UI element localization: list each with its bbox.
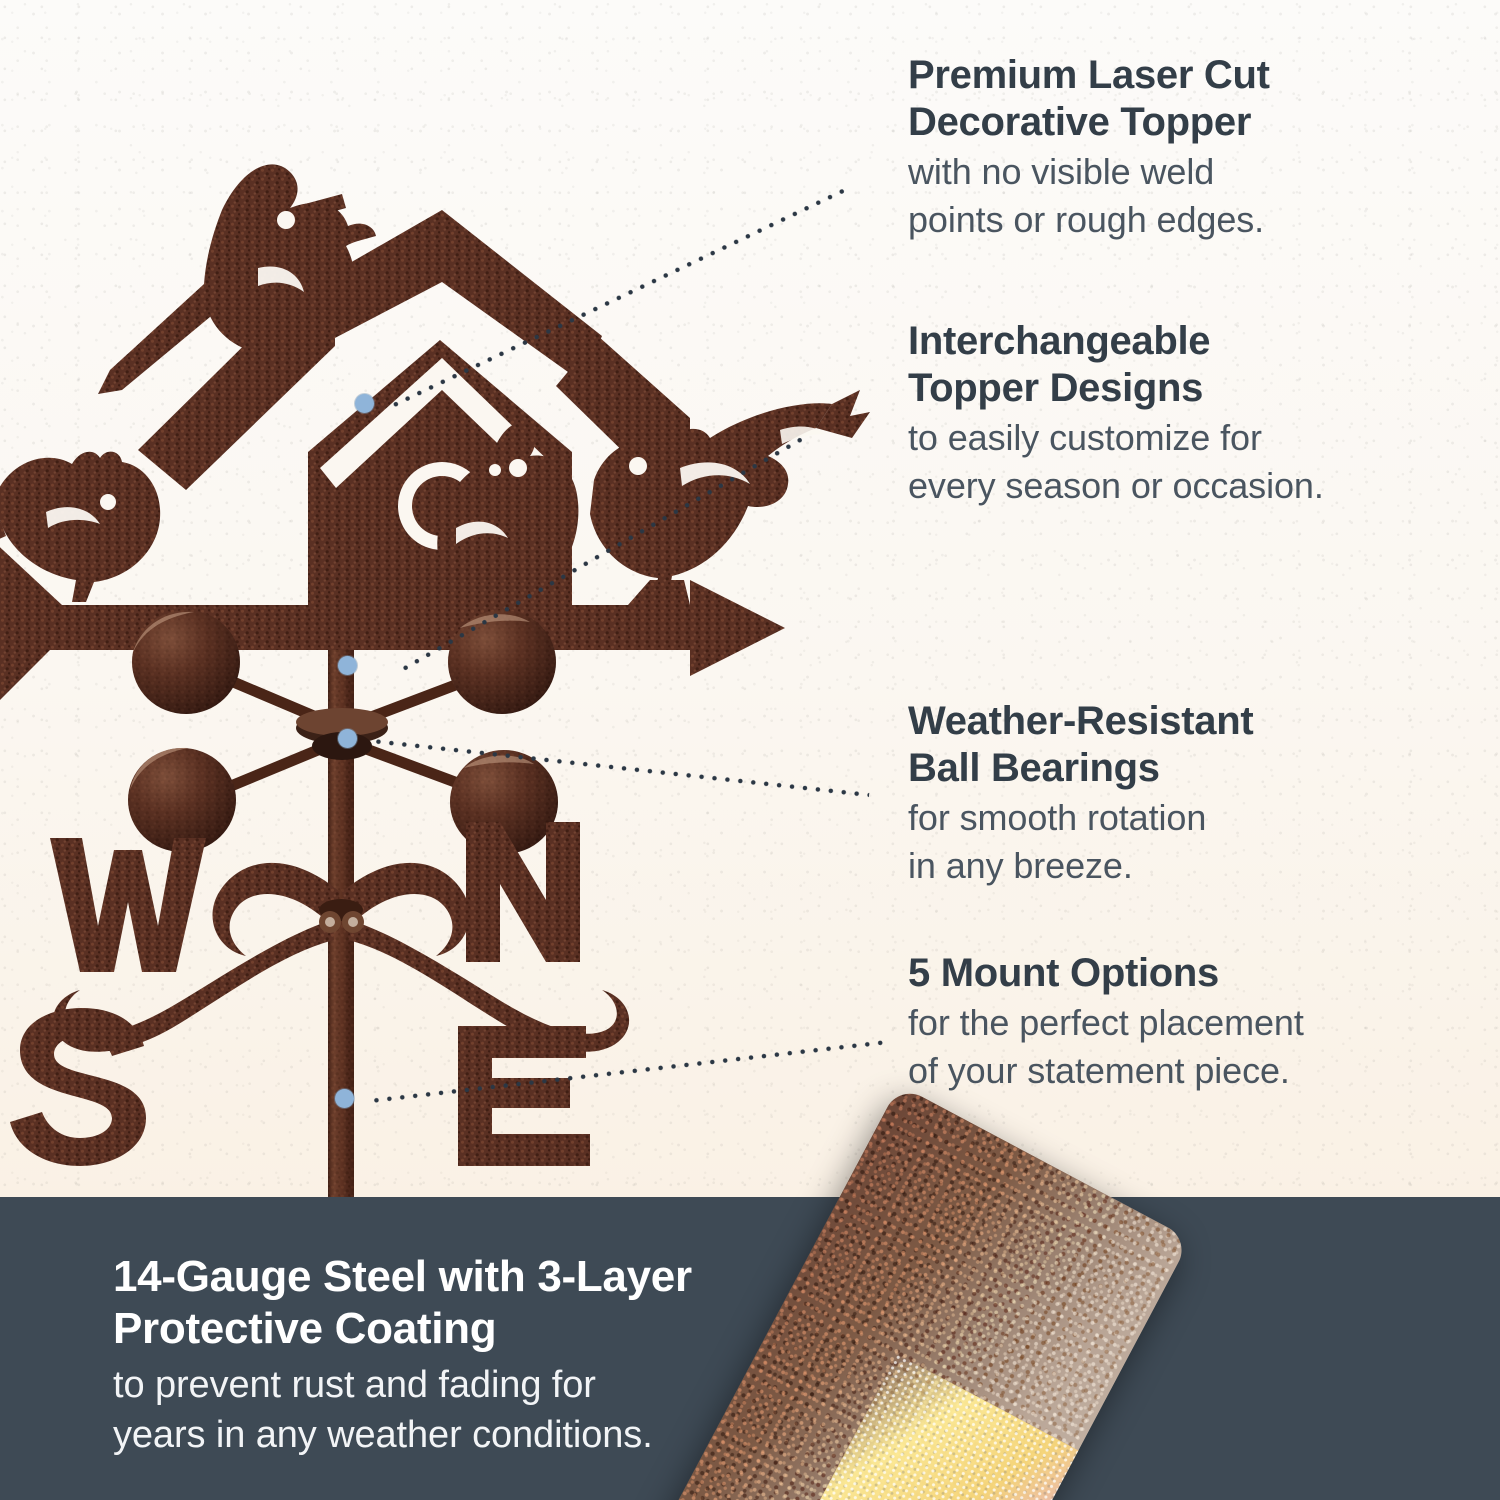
leader-dot-interchangeable: [338, 656, 357, 675]
direction-indicator: [10, 822, 629, 1166]
callout-body: with no visible weld points or rough edg…: [908, 148, 1448, 244]
callout-heading-line2: Decorative Topper: [908, 100, 1251, 144]
leader-dot-topper: [355, 394, 374, 413]
callout-heading-line2: Ball Bearings: [908, 746, 1160, 790]
banner-body-line1: to prevent rust and fading for: [113, 1364, 596, 1406]
banner-body: to prevent rust and fading for years in …: [113, 1360, 873, 1460]
banner-heading-line2: Protective Coating: [113, 1304, 496, 1353]
bird-eye: [277, 211, 295, 229]
leader-dot-bearings: [338, 729, 357, 748]
callout-body: to easily customize for every season or …: [908, 414, 1448, 510]
callout-heading-line1: 5 Mount Options: [908, 951, 1219, 995]
callout-body: for the perfect placement of your statem…: [908, 999, 1448, 1095]
callout-body-line2: of your statement piece.: [908, 1050, 1290, 1091]
callout-heading: Interchangeable Topper Designs: [908, 318, 1448, 412]
callout-interchangeable-topper: Interchangeable Topper Designs to easily…: [908, 318, 1448, 510]
callout-body-line1: for the perfect placement: [908, 1002, 1304, 1043]
callout-body-line1: with no visible weld: [908, 151, 1214, 192]
callout-body-line2: every season or occasion.: [908, 465, 1324, 506]
callout-body-line1: for smooth rotation: [908, 797, 1206, 838]
callout-body-line1: to easily customize for: [908, 417, 1262, 458]
callout-heading: 5 Mount Options: [908, 950, 1448, 997]
callout-body-line2: points or rough edges.: [908, 199, 1264, 240]
callout-heading-line1: Weather-Resistant: [908, 699, 1253, 743]
callout-heading-line2: Topper Designs: [908, 366, 1203, 410]
banner-heading-line1: 14-Gauge Steel with 3-Layer: [113, 1252, 692, 1301]
weathervane-product-illustration: [0, 150, 890, 1230]
banner-body-line2: years in any weather conditions.: [113, 1414, 653, 1456]
callout-mount-options: 5 Mount Options for the perfect placemen…: [908, 950, 1448, 1095]
callout-heading: Premium Laser Cut Decorative Topper: [908, 52, 1448, 146]
callout-ball-bearings: Weather-Resistant Ball Bearings for smoo…: [908, 698, 1448, 890]
banner-heading: 14-Gauge Steel with 3-Layer Protective C…: [113, 1251, 873, 1355]
leader-dot-mount: [335, 1089, 354, 1108]
callout-heading-line1: Interchangeable: [908, 319, 1210, 363]
infographic-canvas: Premium Laser Cut Decorative Topper with…: [0, 0, 1500, 1500]
callout-heading-line1: Premium Laser Cut: [908, 53, 1270, 97]
callout-body: for smooth rotation in any breeze.: [908, 794, 1448, 890]
callout-body-line2: in any breeze.: [908, 845, 1133, 886]
callout-heading: Weather-Resistant Ball Bearings: [908, 698, 1448, 792]
callout-premium-laser-cut: Premium Laser Cut Decorative Topper with…: [908, 52, 1448, 244]
